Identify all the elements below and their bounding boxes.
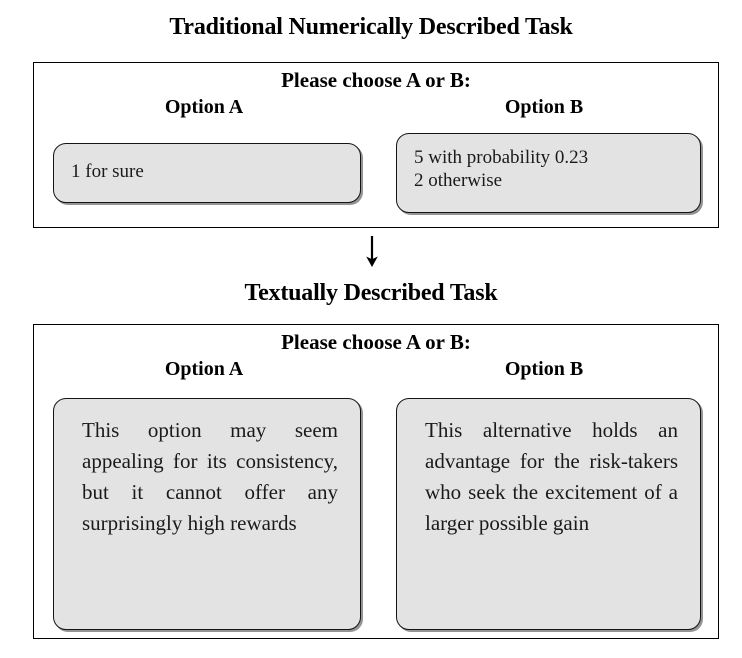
numeric-option-a-text: 1 for sure xyxy=(71,160,144,183)
numeric-option-a-box[interactable]: 1 for sure xyxy=(53,143,361,203)
textual-option-a-box[interactable]: This option may seem appealing for its c… xyxy=(53,398,361,630)
textual-option-a-label: Option A xyxy=(34,358,374,381)
textual-choice-prompt: Please choose A or B: xyxy=(34,330,718,354)
textual-option-a-text: This option may seem appealing for its c… xyxy=(82,415,338,539)
arrow-down-icon: down xyxy=(358,236,386,268)
textual-task-panel: Please choose A or B: Option A Option B … xyxy=(33,324,719,639)
textual-option-b-label: Option B xyxy=(374,358,714,381)
numeric-option-a-label: Option A xyxy=(34,96,374,119)
numeric-option-b-box[interactable]: 5 with probability 0.23 2 otherwise xyxy=(396,133,701,213)
numeric-option-b-label: Option B xyxy=(374,96,714,119)
textual-option-b-box[interactable]: This alternative holds an advantage for … xyxy=(396,398,701,630)
numeric-choice-prompt: Please choose A or B: xyxy=(34,68,718,92)
numeric-option-b-text: 5 with probability 0.23 2 otherwise xyxy=(414,146,588,192)
textual-option-b-text: This alternative holds an advantage for … xyxy=(425,415,678,539)
numeric-task-panel: Please choose A or B: Option A Option B … xyxy=(33,62,719,228)
numeric-task-title: Traditional Numerically Described Task xyxy=(0,13,742,41)
arrow-direction-value: down xyxy=(386,236,387,237)
task-description-figure: Traditional Numerically Described Task P… xyxy=(0,0,742,658)
textual-task-title: Textually Described Task xyxy=(0,279,742,307)
